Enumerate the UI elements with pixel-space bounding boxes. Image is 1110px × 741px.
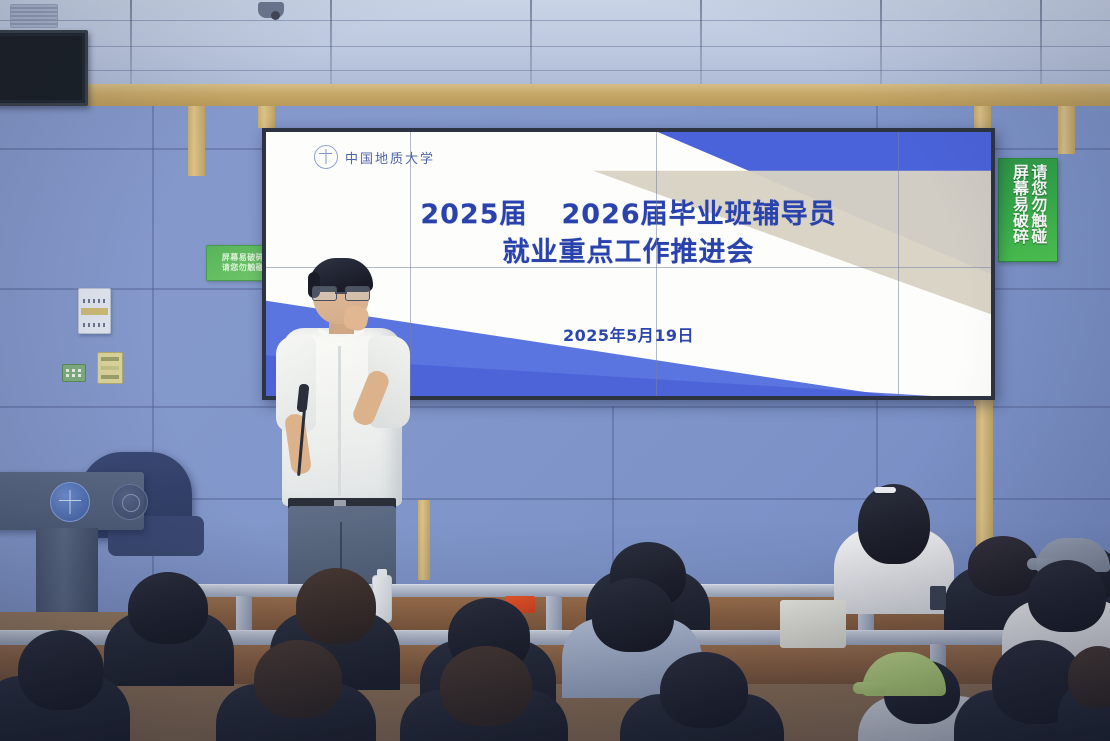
wall-monitor: [0, 30, 88, 106]
slide-logo: 中国地质大学: [314, 145, 435, 169]
slide-title-part-b: 2026届毕业班辅导员: [562, 199, 837, 230]
ceiling-camera: [258, 2, 284, 18]
ceiling-vent: [10, 4, 58, 28]
lectern-top: [0, 472, 144, 530]
slide-title-part-a: 2025届: [420, 199, 527, 230]
lecture-hall-photo: 请您勿触碰 屏幕易破碎 屏幕易破碎 请您勿触碰 中国地质大学 2025届2026…: [0, 0, 1110, 741]
tote-bag: [780, 600, 846, 648]
presenter: [276, 262, 408, 592]
warning-sign-right-col-2: 屏幕易破碎: [1011, 164, 1027, 261]
warning-sign-right-col-1: 请您勿触碰: [1029, 164, 1045, 261]
monitor-screen: [0, 36, 82, 100]
slide-logo-text: 中国地质大学: [345, 148, 435, 167]
ceiling: [0, 0, 1110, 88]
slide-title-line-1: 2025届2026届毕业班辅导员: [266, 196, 991, 234]
presenter-placket: [338, 346, 341, 496]
university-seal-icon-podium: [50, 482, 90, 522]
wall-pilaster-far-right: [1058, 106, 1075, 154]
podium-secondary-emblem-icon: [112, 484, 148, 520]
university-seal-icon: [314, 145, 338, 169]
control-panel-yellow[interactable]: [97, 352, 123, 384]
control-panel-small[interactable]: [62, 364, 86, 382]
warning-sign-left-line-1: 屏幕易破碎: [222, 253, 265, 263]
warning-sign-left-line-2: 请您勿触碰: [222, 263, 265, 273]
ceiling-beam: [0, 84, 1110, 106]
hair-clip: [874, 487, 896, 493]
control-panel-large[interactable]: [78, 288, 111, 334]
warning-sign-right: 请您勿触碰 屏幕易破碎: [998, 158, 1058, 262]
wall-pilaster-left: [188, 106, 205, 176]
wall-pilaster-mid: [258, 106, 275, 128]
phone-on-desk: [930, 586, 946, 610]
glasses-icon: [312, 286, 370, 299]
wall-pilaster-post: [418, 500, 430, 580]
